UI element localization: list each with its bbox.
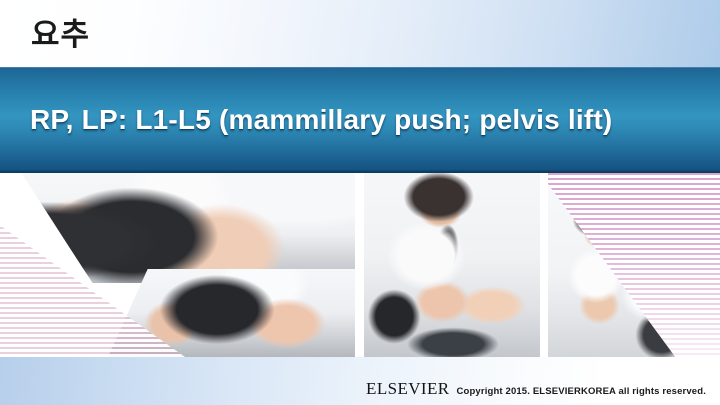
copyright-text: Copyright 2015. ELSEVIERKOREA all rights… — [457, 386, 706, 397]
page-title: 요추 — [31, 16, 90, 54]
photo-practitioner-hands-on-pelvis-closeup — [364, 173, 542, 357]
elsevier-logo-text: ELSEVIER — [366, 379, 449, 399]
title-banner: RP, LP: L1-L5 (mammillary push; pelvis l… — [0, 67, 720, 173]
slide-canvas: 요추 RP, LP: L1-L5 (mammillary push; pelvi… — [0, 0, 720, 405]
photo-group-left — [0, 173, 356, 357]
panel-separator-left — [355, 173, 364, 357]
photo-group-center — [364, 173, 542, 357]
slide-header: 요추 — [0, 0, 720, 67]
photo-group-right — [548, 173, 720, 357]
slide-footer: ELSEVIER Copyright 2015. ELSEVIERKOREA a… — [0, 357, 720, 405]
banner-title-text: RP, LP: L1-L5 (mammillary push; pelvis l… — [30, 67, 612, 173]
photo-collage — [0, 173, 720, 357]
footer-credit: ELSEVIER Copyright 2015. ELSEVIERKOREA a… — [366, 379, 706, 399]
